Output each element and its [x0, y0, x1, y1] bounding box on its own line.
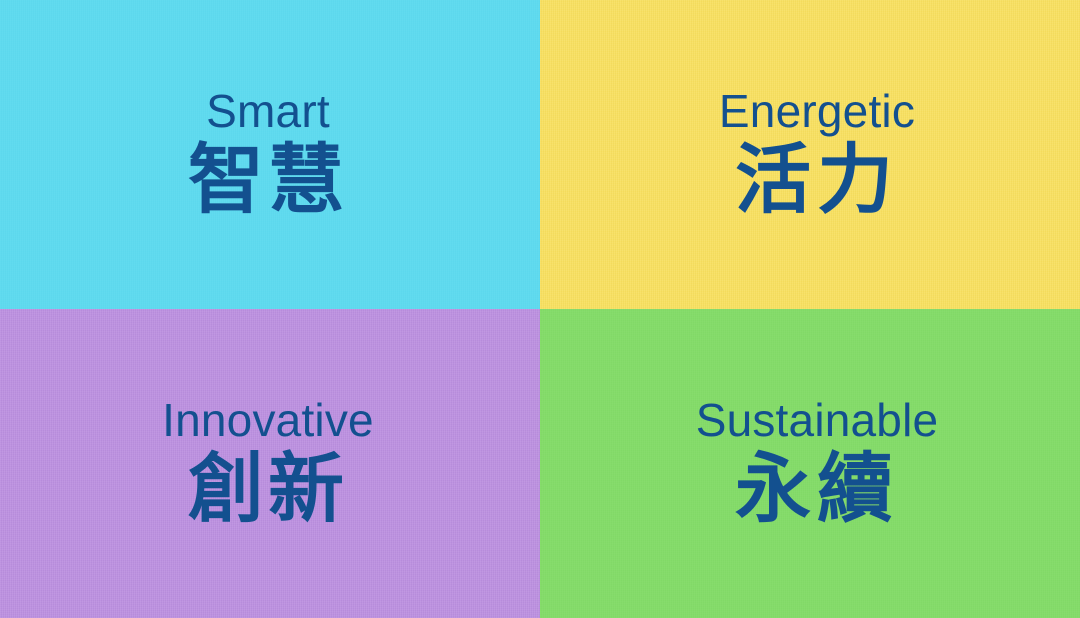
quadrant-innovative-label-en: Innovative — [162, 397, 374, 445]
quadrant-sustainable-label-cjk: 永續 — [735, 449, 899, 530]
quadrant-energetic-label-cjk: 活力 — [735, 140, 899, 221]
quadrant-smart-label-en: Smart — [206, 88, 330, 136]
quadrant-energetic-label-en: Energetic — [719, 88, 915, 136]
quadrant-smart-text: Smart 智慧 — [188, 88, 348, 220]
quadrant-energetic-text: Energetic 活力 — [719, 88, 915, 220]
quadrant-innovative[interactable]: Innovative 創新 — [0, 309, 540, 618]
brand-values-grid: Smart 智慧 Energetic 活力 Innovative 創新 Sust… — [0, 0, 1080, 618]
quadrant-innovative-text: Innovative 創新 — [162, 397, 374, 529]
quadrant-smart-label-cjk: 智慧 — [188, 140, 348, 221]
quadrant-innovative-label-cjk: 創新 — [188, 449, 348, 530]
quadrant-sustainable-label-en: Sustainable — [696, 397, 939, 445]
quadrant-sustainable[interactable]: Sustainable 永續 — [540, 309, 1080, 618]
quadrant-sustainable-text: Sustainable 永續 — [696, 397, 939, 529]
quadrant-energetic[interactable]: Energetic 活力 — [540, 0, 1080, 309]
quadrant-smart[interactable]: Smart 智慧 — [0, 0, 540, 309]
